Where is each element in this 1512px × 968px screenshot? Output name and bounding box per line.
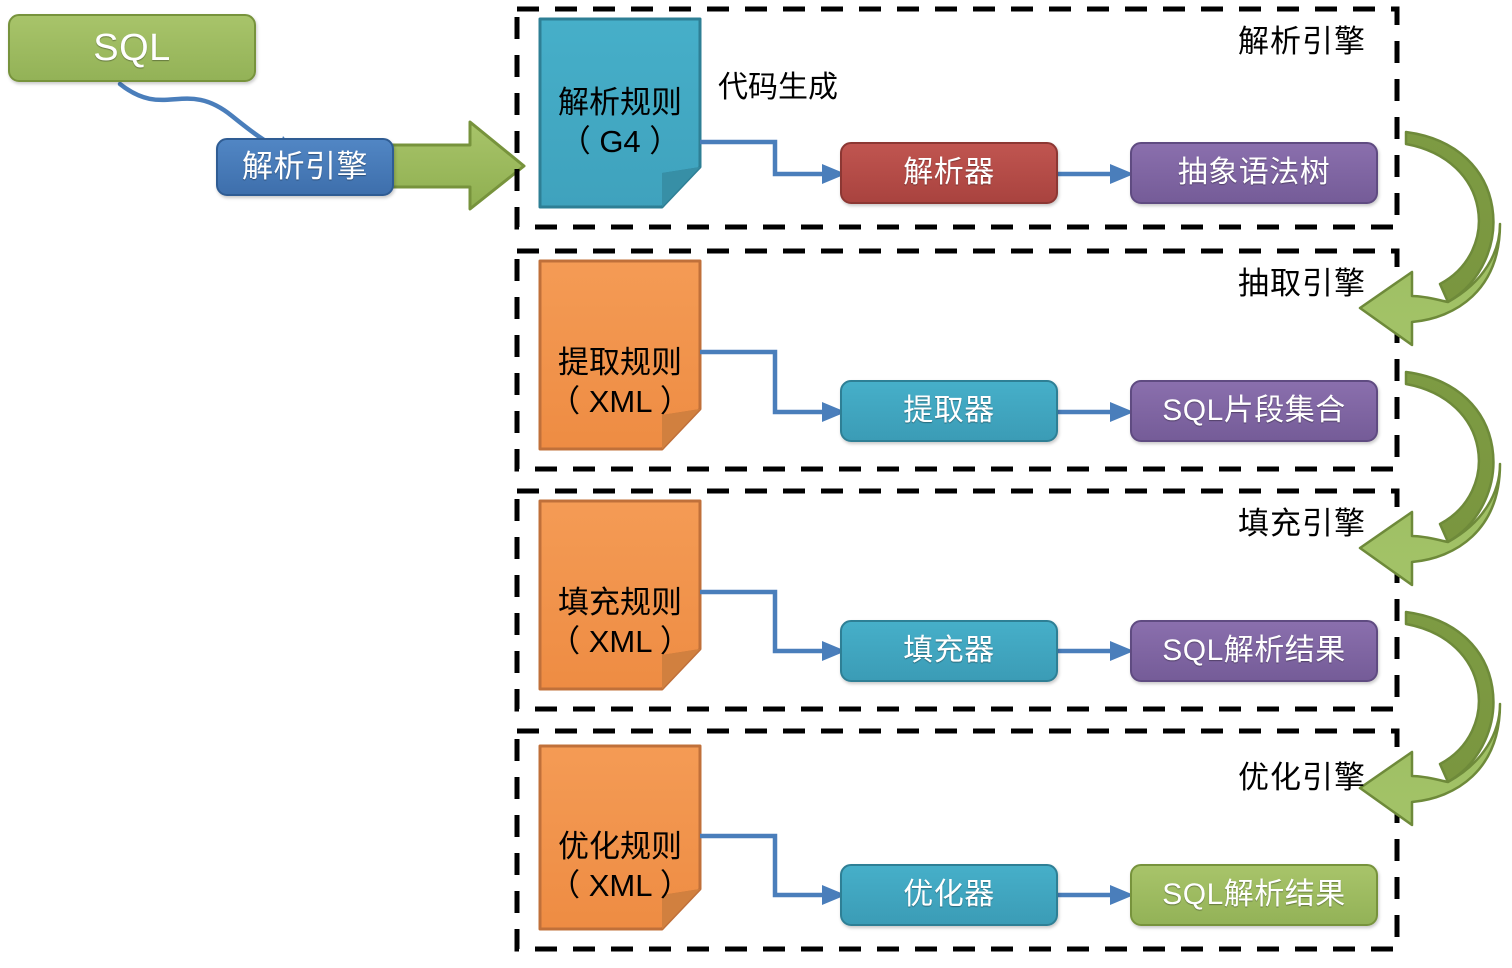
connector-optimize-rule-to-optimizer: [700, 836, 846, 905]
doc-label-extract-rule: 提取规则 （ XML ）: [538, 330, 702, 436]
node-sql-parse-result-optimize[interactable]: SQL解析结果: [1130, 864, 1378, 926]
doc-label-fill-rule: 填充规则 （ XML ）: [538, 570, 702, 676]
connector-parser-to-ast: [1058, 164, 1134, 184]
node-sql-parse-result-fill[interactable]: SQL解析结果: [1130, 620, 1378, 682]
node-sql-fragments-label: SQL片段集合: [1162, 394, 1346, 428]
loop-arrow-parse-to-extract: [1360, 132, 1500, 345]
doc-label-optimize-rule: 优化规则 （ XML ）: [538, 814, 702, 920]
diagram-canvas: SQL 解析引擎 解析引擎 解析规则 （ G4 ） 代码生成 解析器 抽象语法树…: [0, 0, 1512, 968]
node-ast-label: 抽象语法树: [1178, 156, 1331, 190]
node-filler-label: 填充器: [903, 634, 995, 668]
node-optimizer[interactable]: 优化器: [840, 864, 1058, 926]
node-parser-label: 解析器: [903, 156, 995, 190]
parse-engine-pill[interactable]: 解析引擎: [216, 138, 394, 196]
sql-input-label: SQL: [93, 27, 171, 70]
connector-parse-rule-to-parser: [700, 142, 846, 184]
node-ast[interactable]: 抽象语法树: [1130, 142, 1378, 204]
parse-engine-pill-label: 解析引擎: [242, 150, 368, 185]
green-block-arrow: [392, 122, 524, 209]
sql-input-box[interactable]: SQL: [8, 14, 256, 82]
section-title-fill: 填充引擎: [1238, 498, 1366, 543]
section-title-extract: 抽取引擎: [1238, 258, 1366, 303]
connector-fill-rule-to-filler: [700, 592, 846, 661]
node-optimizer-label: 优化器: [903, 878, 995, 912]
loop-arrow-extract-to-fill: [1360, 372, 1500, 585]
document-shape-optimize-rule: [540, 746, 700, 929]
connector-extract-rule-to-extractor: [700, 352, 846, 422]
edge-label-codegen: 代码生成: [718, 62, 838, 106]
node-sql-parse-result-optimize-label: SQL解析结果: [1162, 878, 1346, 912]
connector-optimizer-to-result: [1058, 885, 1134, 905]
node-sql-parse-result-fill-label: SQL解析结果: [1162, 634, 1346, 668]
loop-arrow-fill-to-optimize: [1360, 612, 1500, 825]
connector-extractor-to-fragments: [1058, 402, 1134, 422]
connector-filler-to-result: [1058, 641, 1134, 661]
node-filler[interactable]: 填充器: [840, 620, 1058, 682]
document-shape-extract-rule: [540, 261, 700, 449]
section-title-parse: 解析引擎: [1238, 16, 1366, 61]
node-extractor[interactable]: 提取器: [840, 380, 1058, 442]
document-shape-fill-rule: [540, 501, 700, 689]
node-parser[interactable]: 解析器: [840, 142, 1058, 204]
section-title-optimize: 优化引擎: [1238, 752, 1366, 797]
document-shape-parse-rule: [540, 19, 700, 207]
doc-label-parse-rule: 解析规则 （ G4 ）: [540, 70, 700, 176]
node-extractor-label: 提取器: [903, 394, 995, 428]
node-sql-fragments[interactable]: SQL片段集合: [1130, 380, 1378, 442]
